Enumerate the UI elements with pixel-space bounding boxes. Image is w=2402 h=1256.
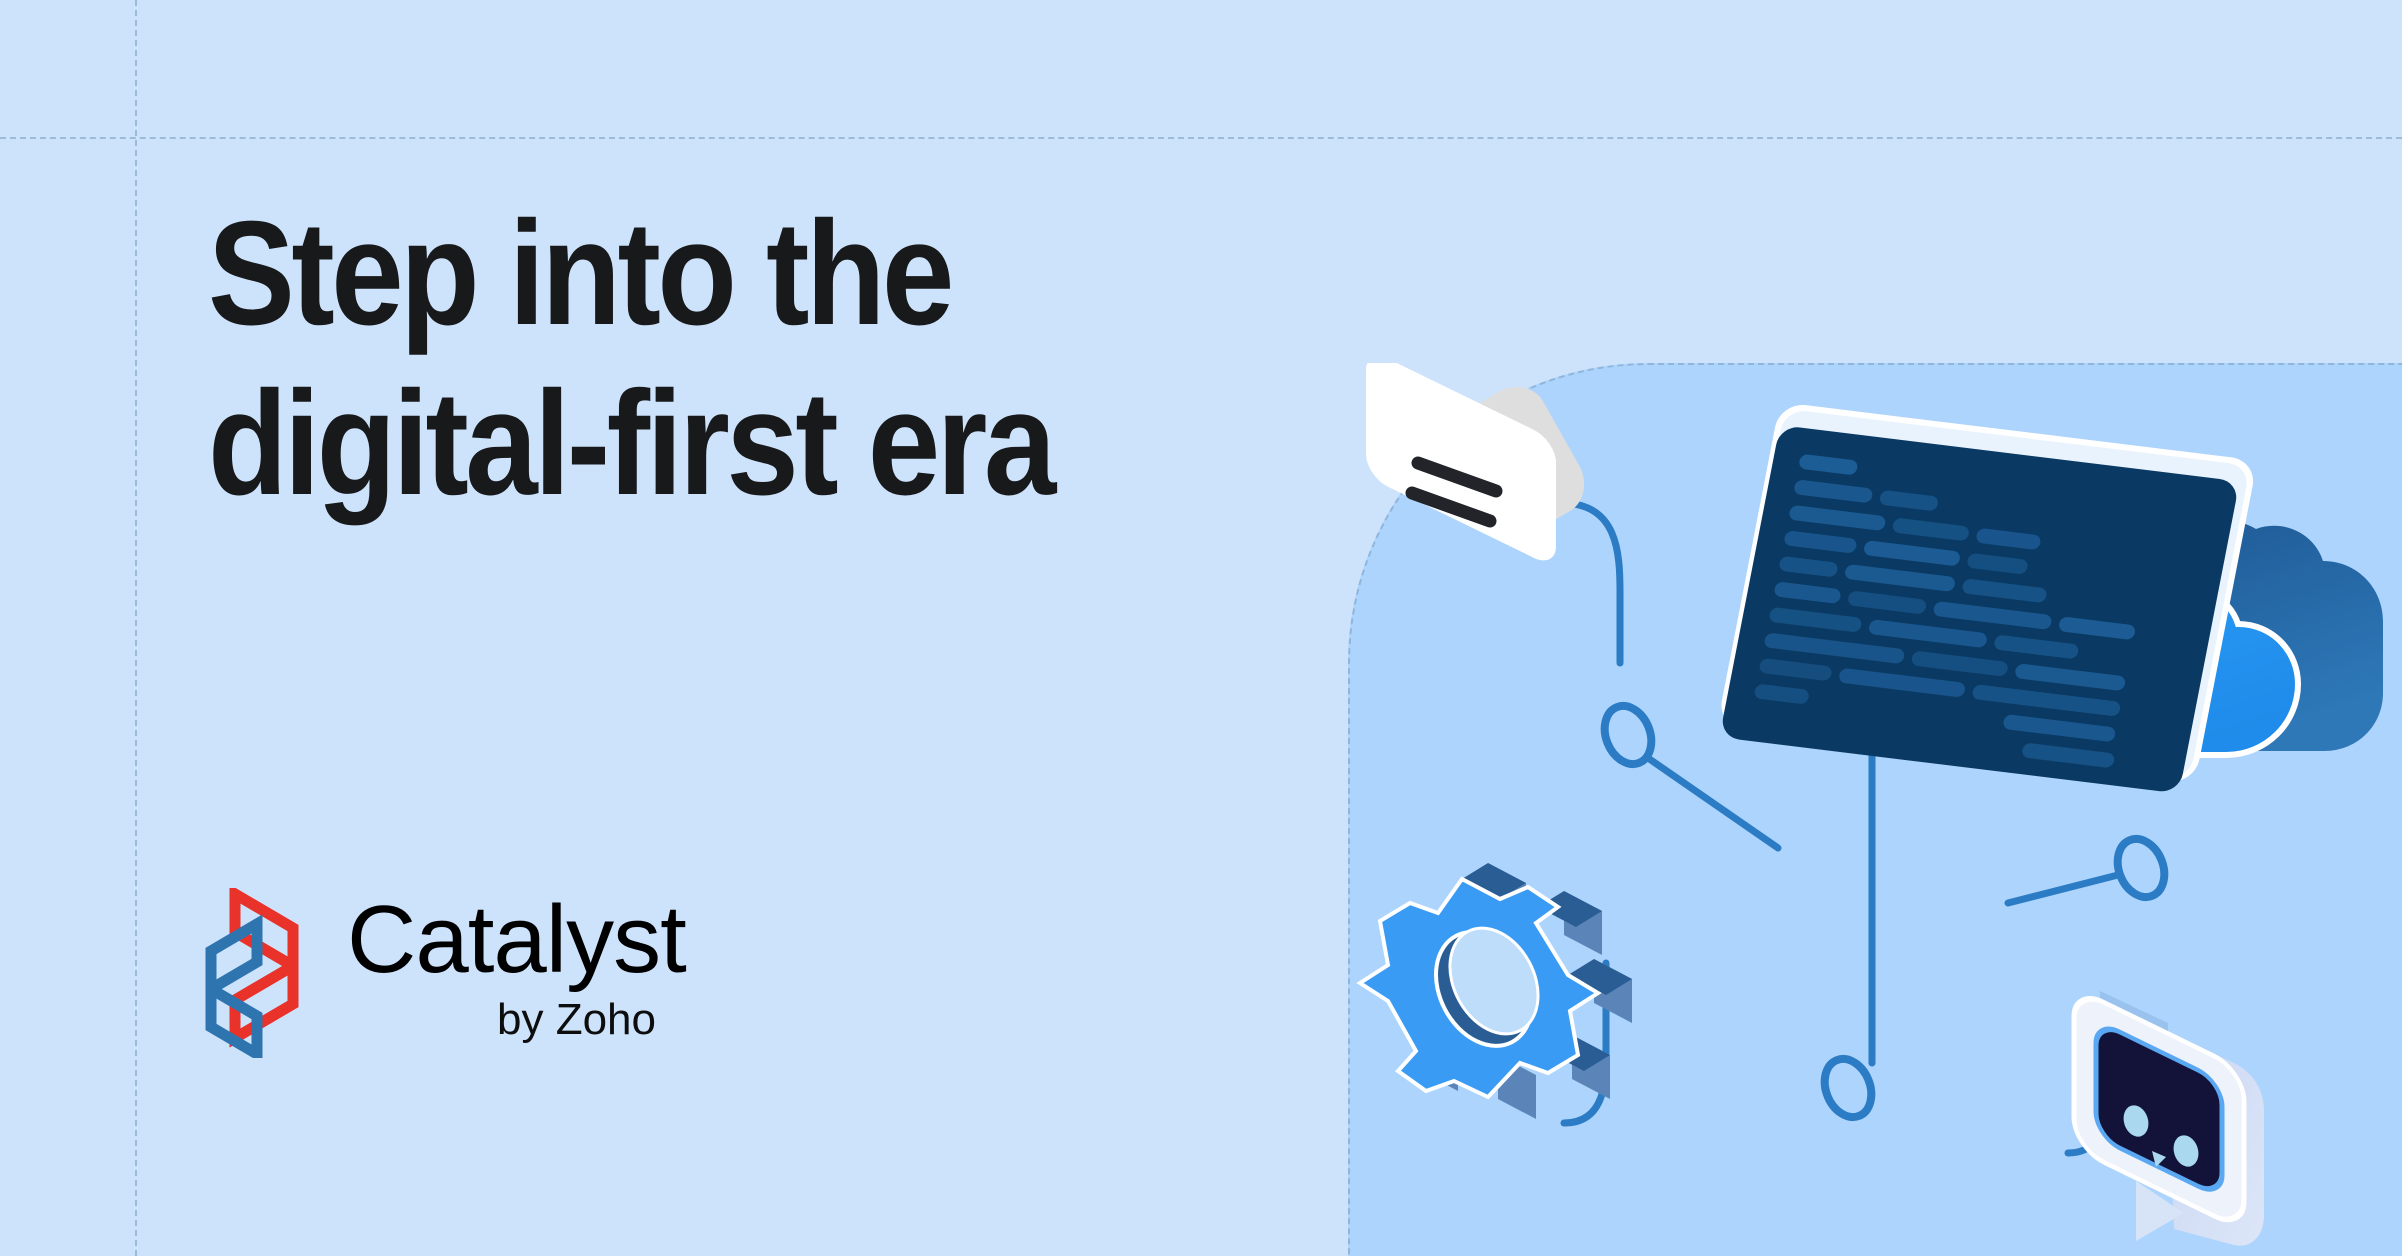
- grid-line-vertical: [135, 0, 137, 1256]
- brand-tagline: by Zoho: [497, 995, 686, 1045]
- digital-platform-illustration: [1348, 363, 2402, 1256]
- grid-line-horizontal: [0, 137, 2402, 139]
- headline-line-1: Step into the: [208, 200, 1176, 348]
- page-title: Step into the digital-first era: [208, 200, 1176, 540]
- brand-logo-text: Catalyst by Zoho: [347, 894, 686, 1045]
- gear-icon: [1360, 863, 1632, 1119]
- code-editor-screen-icon: [1717, 402, 2258, 794]
- headline-line-2: digital-first era: [208, 370, 1176, 518]
- chatbot-icon: [2074, 988, 2264, 1246]
- hero-banner: Step into the digital-first era Catalyst…: [0, 0, 2402, 1256]
- catalyst-chevron-mark-icon: [205, 888, 315, 1058]
- brand-name: Catalyst: [347, 894, 686, 985]
- brand-logo: Catalyst by Zoho: [205, 888, 686, 1058]
- connector-node-icon: [2109, 832, 2172, 904]
- message-card-icon: [1366, 363, 1584, 569]
